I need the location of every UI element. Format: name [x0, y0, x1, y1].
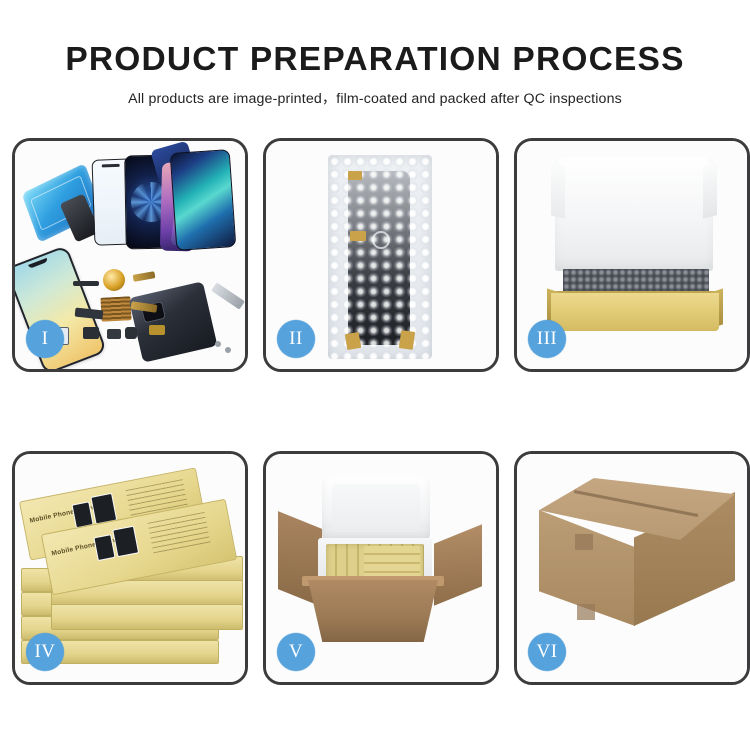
small-module-part [107, 329, 121, 339]
page-title: PRODUCT PREPARATION PROCESS [0, 0, 750, 77]
tape-strip [348, 171, 362, 180]
step-badge-2: II [277, 320, 315, 358]
screw-part [225, 347, 231, 353]
foam-cooler-lid [322, 476, 430, 542]
tape-strip [345, 332, 362, 350]
carton-tape-mark [577, 604, 595, 620]
process-step-2[interactable]: II [263, 138, 499, 372]
bubble-texture-overlay [328, 155, 432, 359]
connector-part [149, 325, 165, 335]
process-step-4[interactable]: Mobile Phone Spare Parts Mobile Phone Sp… [12, 451, 248, 685]
process-step-1[interactable]: I [12, 138, 248, 372]
step-badge-1: I [26, 320, 64, 358]
small-module-part [83, 327, 99, 339]
step-badge-6: VI [528, 633, 566, 671]
product-photo-swatch [112, 526, 139, 558]
process-step-3[interactable]: III [514, 138, 750, 372]
phone-back-housing [129, 281, 218, 362]
process-step-6[interactable]: VI [514, 451, 750, 685]
step-badge-5: V [277, 633, 315, 671]
chip-grid-component [100, 296, 131, 322]
tweezers-tool [211, 282, 245, 309]
step-badge-4: IV [26, 633, 64, 671]
yellow-inner-box [551, 293, 719, 331]
process-step-5[interactable]: V [263, 451, 499, 685]
process-step-grid: I II III [12, 138, 748, 690]
page-subtitle: All products are image-printed，film-coat… [0, 77, 750, 108]
carton-flap-right [434, 524, 482, 605]
carton-tape-mark [575, 534, 593, 550]
step-badge-3: III [528, 320, 566, 358]
flex-cable-part [73, 281, 99, 286]
flex-cable-part [133, 271, 156, 282]
phone-teal-gradient [170, 149, 237, 251]
bubble-wrap-bag [328, 155, 432, 359]
screw-part [215, 341, 221, 347]
shipping-carton-open [308, 580, 438, 642]
packed-yellow-boxes [364, 546, 420, 580]
white-foam-lid [555, 157, 713, 271]
stacked-box [51, 604, 243, 630]
tape-strip [350, 231, 366, 241]
gold-coil-component [103, 269, 125, 291]
small-module-part [125, 327, 137, 339]
spec-text-block [148, 512, 211, 554]
page-header: PRODUCT PREPARATION PROCESS All products… [0, 0, 750, 130]
tape-strip [399, 330, 415, 350]
